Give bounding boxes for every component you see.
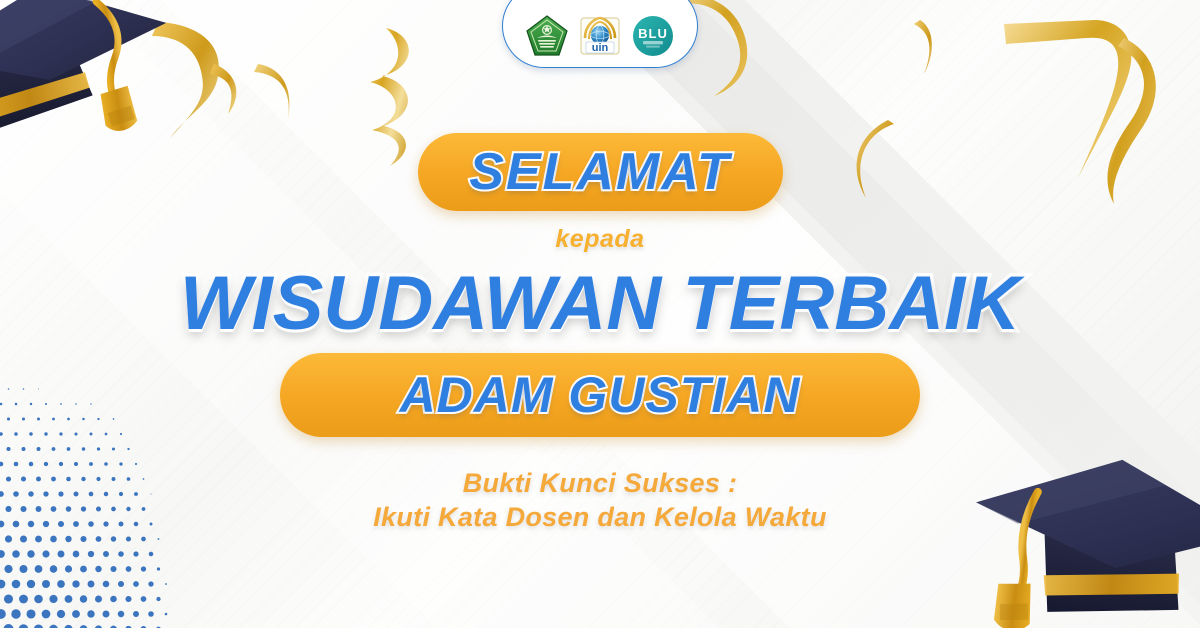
poster-canvas: uin BLU SELAMAT kepada WISUDAWAN TERBAIK… — [0, 0, 1200, 628]
headline-text: WISUDAWAN TERBAIK — [180, 264, 1020, 344]
graduate-name-pill: ADAM GUSTIAN — [280, 353, 920, 437]
graduate-name-text: ADAM GUSTIAN — [400, 370, 801, 420]
uin-logo-text: uin — [592, 42, 609, 54]
selamat-text: SELAMAT — [469, 146, 730, 198]
selamat-pill: SELAMAT — [418, 133, 783, 211]
blu-logo: BLU — [631, 14, 675, 58]
uin-logo: uin — [578, 14, 622, 58]
kepada-text: kepada — [555, 227, 644, 252]
blu-logo-text: BLU — [638, 26, 668, 41]
subtitle-line-2: Ikuti Kata Dosen dan Kelola Waktu — [373, 501, 827, 535]
subtitle-block: Bukti Kunci Sukses : Ikuti Kata Dosen da… — [373, 467, 827, 535]
institution-logo-bar: uin BLU — [502, 0, 698, 68]
poster-content: SELAMAT kepada WISUDAWAN TERBAIK ADAM GU… — [0, 0, 1200, 534]
kemenag-logo — [525, 14, 569, 58]
subtitle-line-1: Bukti Kunci Sukses : — [373, 467, 827, 501]
